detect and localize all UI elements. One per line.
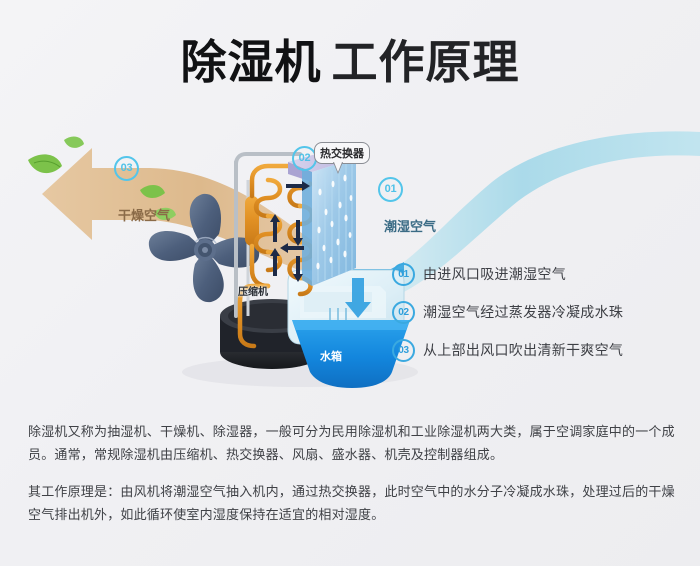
- list-item: 03 从上部出风口吹出清新干爽空气: [392, 331, 692, 369]
- humid-air-label: 潮湿空气: [384, 216, 436, 235]
- page-title: 除湿机工作原理: [0, 34, 700, 90]
- page-root: 除湿机工作原理: [0, 0, 700, 566]
- dry-air-label: 干燥空气: [118, 205, 170, 224]
- step-badge-01: 01: [392, 263, 415, 286]
- step-badge-03: 03: [392, 339, 415, 362]
- step-text-01: 由进风口吸进潮湿空气: [423, 264, 566, 284]
- compressor-label: 压缩机: [238, 283, 268, 298]
- diagram-badge-01: 01: [378, 177, 403, 202]
- heat-exchanger-callout: 热交换器: [314, 142, 370, 164]
- diagram-badge-03: 03: [114, 156, 139, 181]
- paragraph-2: 其工作原理是：由风机将潮湿空气抽入机内，通过热交换器，此时空气中的水分子冷凝成水…: [28, 480, 676, 526]
- list-item: 02 潮湿空气经过蒸发器冷凝成水珠: [392, 293, 692, 331]
- page-title-part1: 除湿机: [181, 36, 322, 88]
- leaf-icon: [64, 137, 84, 148]
- step-badge-02: 02: [392, 301, 415, 324]
- paragraph-1: 除湿机又称为抽湿机、干燥机、除湿器，一般可分为民用除湿机和工业除湿机两大类，属于…: [28, 420, 676, 466]
- step-text-03: 从上部出风口吹出清新干爽空气: [423, 340, 623, 360]
- step-text-02: 潮湿空气经过蒸发器冷凝成水珠: [423, 302, 623, 322]
- list-item: 01 由进风口吸进潮湿空气: [392, 255, 692, 293]
- callout-tail: [333, 162, 343, 174]
- page-title-part2: 工作原理: [332, 36, 520, 88]
- step-list: 01 由进风口吸进潮湿空气 02 潮湿空气经过蒸发器冷凝成水珠 03 从上部出风…: [392, 255, 692, 369]
- leaf-icon: [28, 154, 62, 173]
- description-block: 除湿机又称为抽湿机、干燥机、除湿器，一般可分为民用除湿机和工业除湿机两大类，属于…: [28, 420, 676, 540]
- water-tank-label: 水箱: [320, 348, 342, 364]
